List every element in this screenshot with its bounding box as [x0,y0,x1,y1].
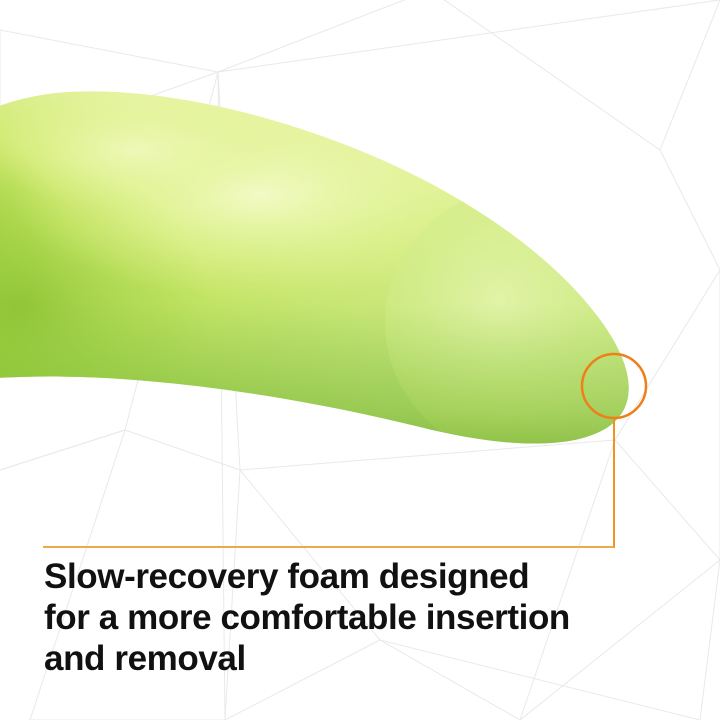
feature-caption: Slow-recovery foam designed for a more c… [44,556,664,679]
callout-leader-line [43,418,614,547]
product-feature-card: Slow-recovery foam designed for a more c… [0,0,720,720]
highlight-circle [582,354,646,418]
